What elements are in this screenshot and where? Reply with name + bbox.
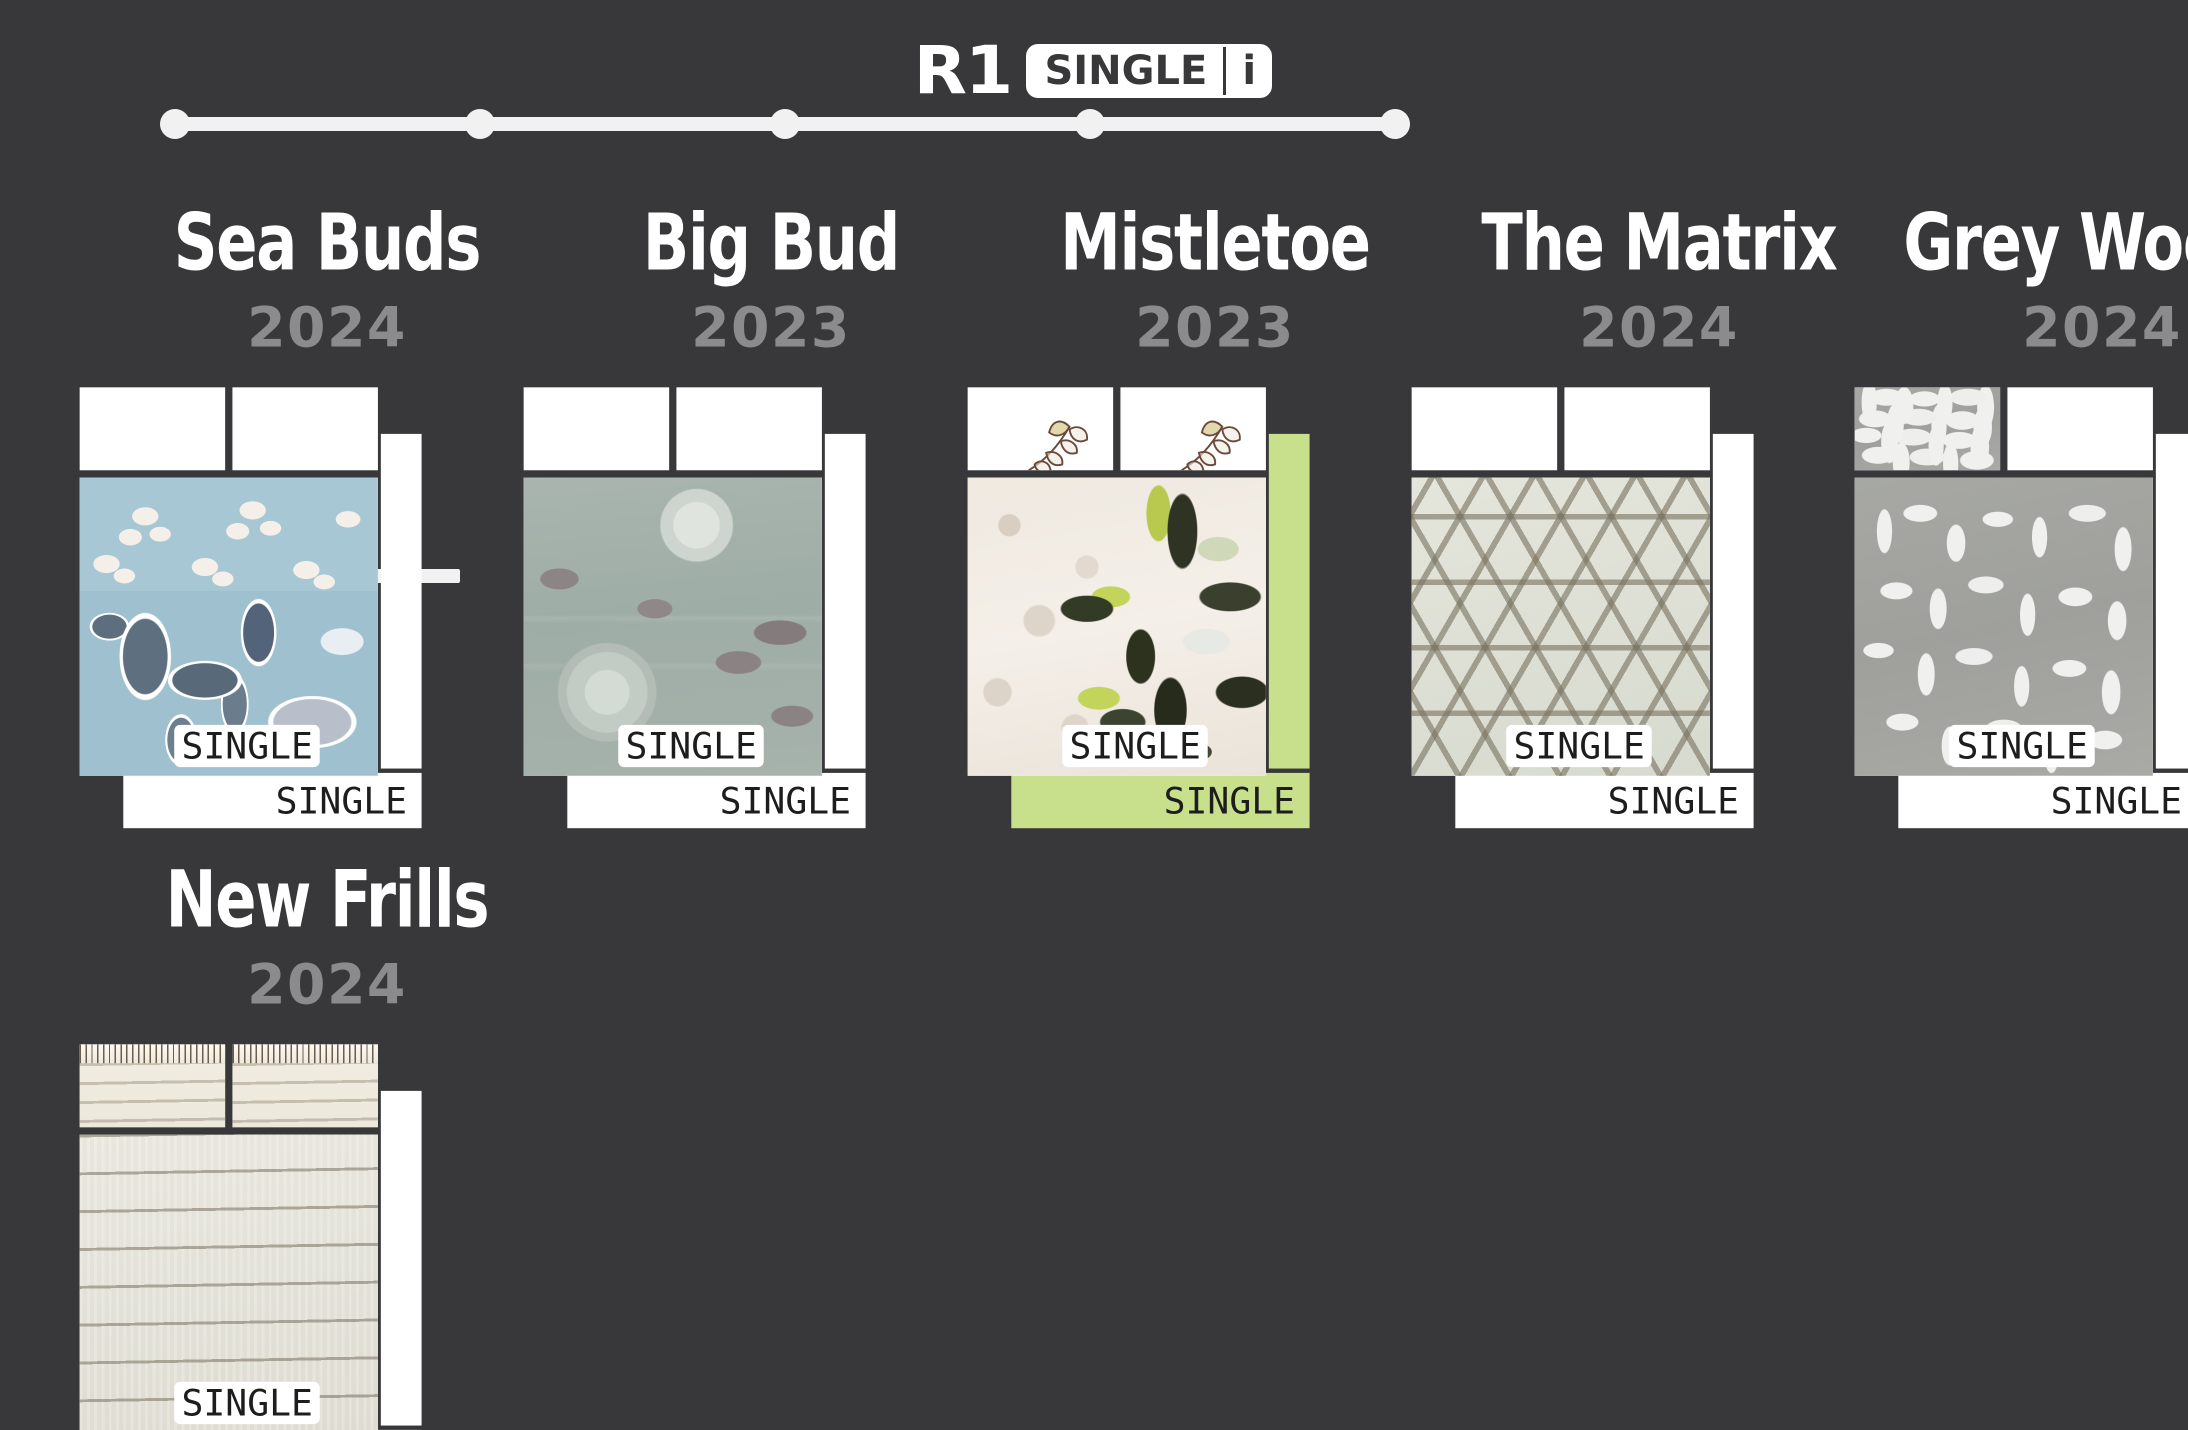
- brand-pill-suffix: i: [1226, 44, 1272, 98]
- duvet-size-label: SINGLE: [618, 725, 764, 767]
- pillow-right: [233, 387, 379, 470]
- pillow-row: [80, 387, 378, 470]
- timeline-dot-grey-woods[interactable]: [1380, 109, 1410, 139]
- duvet-size-label: SINGLE: [1950, 725, 2096, 767]
- bed-side-panel: [1269, 434, 1310, 769]
- pillow-row: [80, 1045, 378, 1128]
- base-size-label: SINGLE: [276, 782, 422, 818]
- duvet-size-label: SINGLE: [175, 1382, 321, 1424]
- base-size-label: SINGLE: [720, 782, 866, 818]
- base-size-label: SINGLE: [2051, 782, 2188, 818]
- pillow-left: [524, 387, 670, 470]
- brand-logo: R1 SINGLE i: [0, 38, 2188, 104]
- brand-mark: R1: [913, 38, 1010, 104]
- brand-pill-label: SINGLE: [1026, 44, 1223, 98]
- product-card-grey-woods[interactable]: Grey Woods 2024 SINGLE SINGLE: [1811, 204, 2188, 867]
- product-year: 2024: [1811, 300, 2188, 355]
- pillow-right: [233, 1045, 379, 1128]
- pillow-right: [2008, 387, 2154, 470]
- pillow-right: [1120, 387, 1266, 470]
- pillow-left: [80, 1045, 226, 1128]
- bed-side-panel: [1713, 434, 1754, 769]
- pillow-row: [524, 387, 822, 470]
- leaf-sprig-icon: [1170, 405, 1249, 470]
- pillow-row: [968, 387, 1266, 470]
- pillow-row: [1855, 387, 2153, 470]
- bed-base-bar: SINGLE: [1455, 773, 1753, 828]
- brand-pill: SINGLE i: [1026, 44, 1272, 98]
- pillow-left: [1411, 387, 1557, 470]
- base-size-label: SINGLE: [1164, 782, 1310, 818]
- base-size-label: SINGLE: [1607, 782, 1753, 818]
- bed-side-panel: [2156, 434, 2188, 769]
- bed-base-bar: SINGLE: [1899, 773, 2188, 828]
- timeline-dot-big-bud[interactable]: [465, 109, 495, 139]
- duvet-size-label: SINGLE: [175, 725, 321, 767]
- pillow-left: [80, 387, 226, 470]
- bed-side-panel: [825, 434, 866, 769]
- bed-base-bar: SINGLE: [124, 773, 422, 828]
- pillow-fabric-swatch: [80, 1045, 226, 1128]
- pillow-left: [1855, 387, 2001, 470]
- catalog-page: R1 SINGLE i Sea Buds 2024 SINGLE: [0, 0, 2188, 1430]
- timeline-dot-mistletoe[interactable]: [770, 109, 800, 139]
- product-title: Grey Woods: [1852, 204, 2188, 283]
- bed-base-bar: SINGLE: [567, 773, 865, 828]
- product-title: New Frills: [77, 861, 578, 940]
- pillow-right: [677, 387, 823, 470]
- pillow-left: [968, 387, 1114, 470]
- timeline-dot-the-matrix[interactable]: [1075, 109, 1105, 139]
- duvet-size-label: SINGLE: [1062, 725, 1208, 767]
- timeline-dot-sea-buds[interactable]: [160, 109, 190, 139]
- pillow-right: [1564, 387, 1710, 470]
- duvet-size-label: SINGLE: [1506, 725, 1652, 767]
- bed-graphic: SINGLE SINGLE: [1811, 387, 2188, 867]
- bed-side-panel: [381, 434, 422, 769]
- timeline-row-1: [175, 117, 1397, 131]
- bed-graphic: SINGLE SINGLE: [36, 1045, 618, 1430]
- pillow-fabric-swatch: [233, 1045, 379, 1128]
- pillow-fabric-swatch: [1855, 387, 2001, 470]
- bed-base-bar: SINGLE: [1011, 773, 1309, 828]
- pillow-row: [1411, 387, 1709, 470]
- bed-side-panel: [381, 1091, 422, 1426]
- product-card-new-frills[interactable]: New Frills 2024 SINGLE SINGLE: [36, 861, 618, 1430]
- product-year: 2024: [36, 957, 618, 1012]
- leaf-sprig-icon: [1017, 405, 1096, 470]
